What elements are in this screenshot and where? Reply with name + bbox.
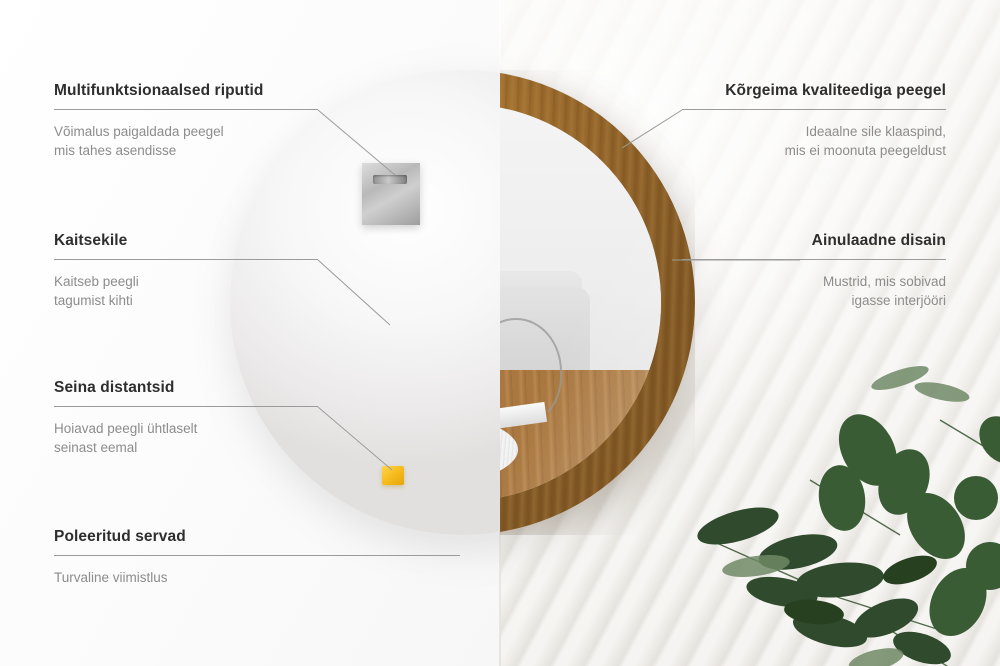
callout-title: Seina distantsid <box>54 379 318 397</box>
callout-title: Poleeritud servad <box>54 528 460 546</box>
callout-rule <box>54 109 318 110</box>
foliage-icon <box>690 330 1000 666</box>
callout-title: Kaitsekile <box>54 232 318 250</box>
callout-desc: Ideaalne sile klaaspind, mis ei moonuta … <box>682 122 946 160</box>
callout-multifunktsionaalsed-riputid: Multifunktsionaalsed riputid Võimalus pa… <box>54 82 318 160</box>
callout-desc: Võimalus paigaldada peegel mis tahes ase… <box>54 122 318 160</box>
callout-ainulaadne-disain: Ainulaadne disain Mustrid, mis sobivad i… <box>682 232 946 310</box>
callout-rule <box>682 109 946 110</box>
callout-rule <box>54 406 318 407</box>
callout-seina-distantsid: Seina distantsid Hoiavad peegli ühtlasel… <box>54 379 318 457</box>
callout-korgeima-kvaliteediga-peegel: Kõrgeima kvaliteediga peegel Ideaalne si… <box>682 82 946 160</box>
callout-poleeritud-servad: Poleeritud servad Turvaline viimistlus <box>54 528 460 587</box>
callout-rule <box>54 555 460 556</box>
eucalyptus-foliage <box>690 330 1000 666</box>
callout-rule <box>54 259 318 260</box>
callout-desc: Turvaline viimistlus <box>54 568 460 587</box>
callout-kaitsekile: Kaitsekile Kaitseb peegli tagumist kihti <box>54 232 318 310</box>
callout-desc: Kaitseb peegli tagumist kihti <box>54 272 318 310</box>
callout-desc: Hoiavad peegli ühtlaselt seinast eemal <box>54 419 318 457</box>
wall-spacer <box>382 466 404 485</box>
callout-title: Kõrgeima kvaliteediga peegel <box>682 82 946 100</box>
callout-desc: Mustrid, mis sobivad igasse interjööri <box>682 272 946 310</box>
hanger-plate <box>362 163 420 225</box>
callout-title: Multifunktsionaalsed riputid <box>54 82 318 100</box>
callout-rule <box>682 259 946 260</box>
callout-title: Ainulaadne disain <box>682 232 946 250</box>
hanger-slot <box>373 175 407 184</box>
infographic-canvas: Multifunktsionaalsed riputid Võimalus pa… <box>0 0 1000 666</box>
